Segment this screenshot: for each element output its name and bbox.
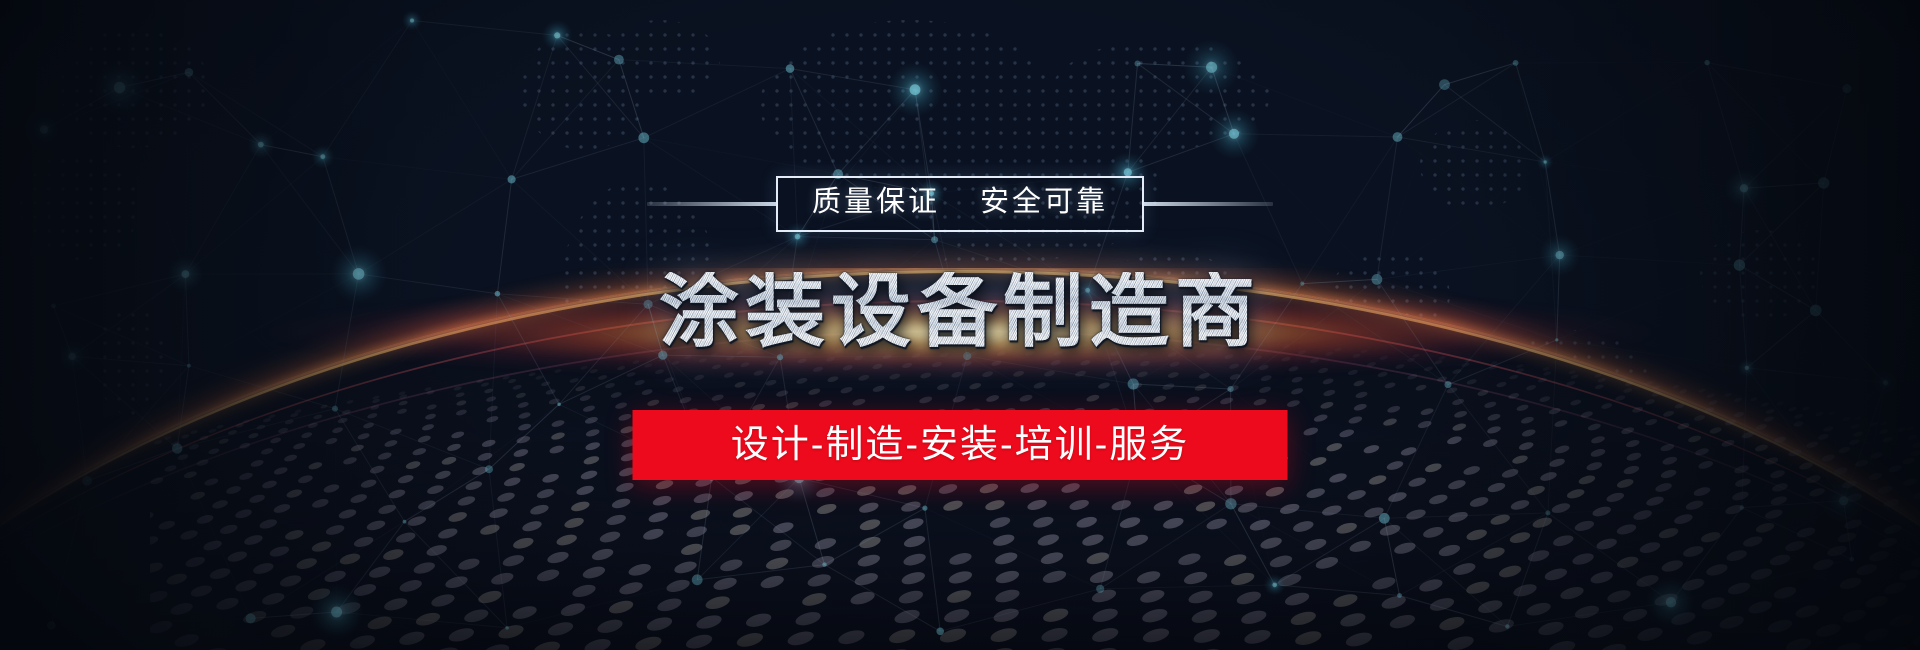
cta-banner-text: 设计-制造-安装-培训-服务 <box>731 426 1190 464</box>
tagline-box: 质量保证 安全可靠 <box>776 176 1144 232</box>
tagline-rule-left <box>647 202 777 206</box>
tagline-safety: 安全可靠 <box>980 188 1108 217</box>
tagline-rule-right <box>1143 202 1273 206</box>
cta-banner: 设计-制造-安装-培训-服务 <box>633 410 1288 480</box>
hero-banner: 质量保证 安全可靠 涂装设备制造商 设计-制造-安装-培训-服务 <box>0 0 1920 650</box>
headline-title: 涂装设备制造商 <box>0 272 1920 352</box>
tagline-quality: 质量保证 <box>812 188 940 217</box>
tagline-row: 质量保证 安全可靠 <box>0 176 1920 232</box>
banner-content: 质量保证 安全可靠 涂装设备制造商 设计-制造-安装-培训-服务 <box>0 0 1920 650</box>
